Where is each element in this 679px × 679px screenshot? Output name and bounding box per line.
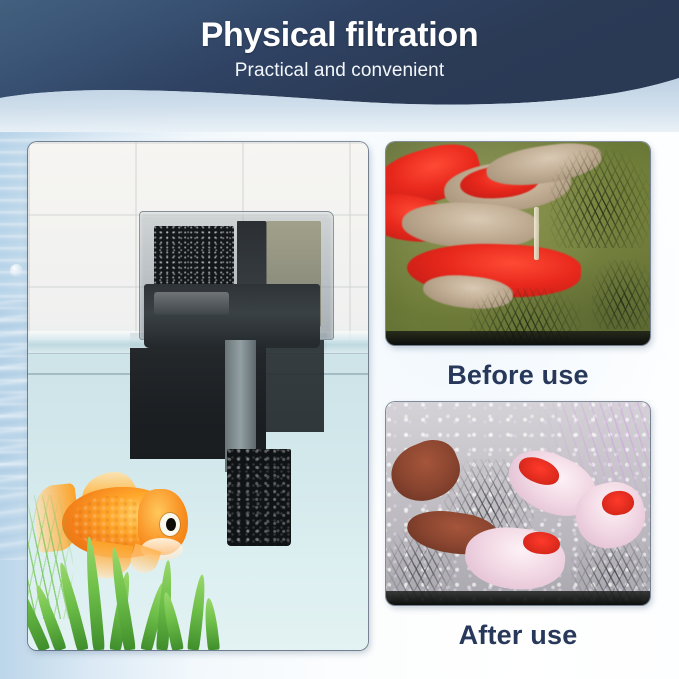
header-banner: Physical filtration Practical and conven… xyxy=(0,0,679,132)
header-wave-shape xyxy=(0,0,679,132)
background-bubble-icon xyxy=(10,264,23,277)
filter-body-highlight xyxy=(154,292,229,315)
after-use-photo-card xyxy=(386,402,650,605)
main-product-photo xyxy=(28,142,368,650)
plant-blade xyxy=(83,536,105,650)
tank-floor-shadow xyxy=(386,331,650,345)
before-use-photo-card xyxy=(386,142,650,345)
after-use-photo xyxy=(386,402,650,605)
tank-floor-shadow xyxy=(386,591,650,605)
aquatic-plants-group xyxy=(28,477,252,650)
thermometer-probe xyxy=(534,207,539,260)
after-use-caption: After use xyxy=(386,620,650,651)
main-product-photo-card xyxy=(28,142,368,650)
before-use-photo xyxy=(386,142,650,345)
aquarium-weed-dark xyxy=(592,260,650,329)
plant-blade xyxy=(202,598,219,650)
filter-right-submerged-block xyxy=(266,340,324,431)
aquarium-weed-dark xyxy=(550,150,650,247)
before-use-caption: Before use xyxy=(386,360,650,391)
product-infographic-poster: Physical filtration Practical and conven… xyxy=(0,0,679,679)
